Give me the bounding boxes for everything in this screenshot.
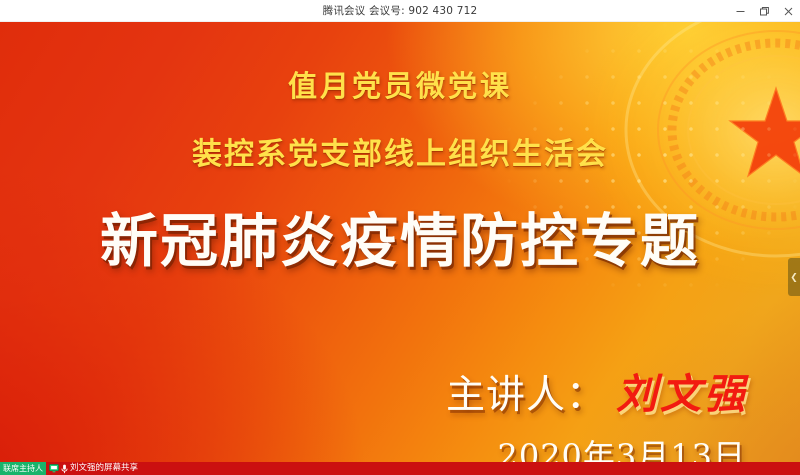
slide-date: 2020年3月13日 [497, 431, 746, 462]
window-titlebar[interactable]: 腾讯会议 会议号: 902 430 712 [0, 0, 800, 22]
slide-kicker-line: 值月党员微党课 [0, 63, 800, 105]
monitor-share-icon [49, 464, 59, 473]
minimize-icon[interactable] [728, 0, 752, 22]
speaker-label: 主讲人： [446, 364, 606, 420]
side-panel-toggle[interactable]: ❮ [788, 258, 800, 296]
window-controls [728, 0, 800, 22]
share-status-bar: 联席主持人 刘文强的屏幕共享 [0, 462, 800, 475]
meeting-window: 腾讯会议 会议号: 902 430 712 [0, 0, 800, 475]
chevron-left-icon: ❮ [790, 273, 798, 282]
slide-subtitle-line: 装控系党支部线上组织生活会 [0, 129, 800, 173]
speaker-name: 刘文强 [616, 360, 748, 420]
slide-speaker-line: 主讲人： 刘文强 [446, 360, 748, 420]
role-badge: 联席主持人 [0, 462, 46, 475]
shared-screen-slide: 值月党员微党课 装控系党支部线上组织生活会 新冠肺炎疫情防控专题 主讲人： 刘文… [0, 22, 800, 462]
share-owner-name: 刘文强的屏幕共享 [70, 462, 138, 475]
maximize-restore-icon[interactable] [752, 0, 776, 22]
close-icon[interactable] [776, 0, 800, 22]
slide-main-title: 新冠肺炎疫情防控专题 [0, 194, 800, 278]
window-title: 腾讯会议 会议号: 902 430 712 [323, 3, 478, 18]
share-info: 刘文强的屏幕共享 [46, 462, 138, 475]
slide-text-group: 值月党员微党课 装控系党支部线上组织生活会 新冠肺炎疫情防控专题 主讲人： 刘文… [0, 22, 800, 462]
microphone-icon [61, 464, 68, 474]
